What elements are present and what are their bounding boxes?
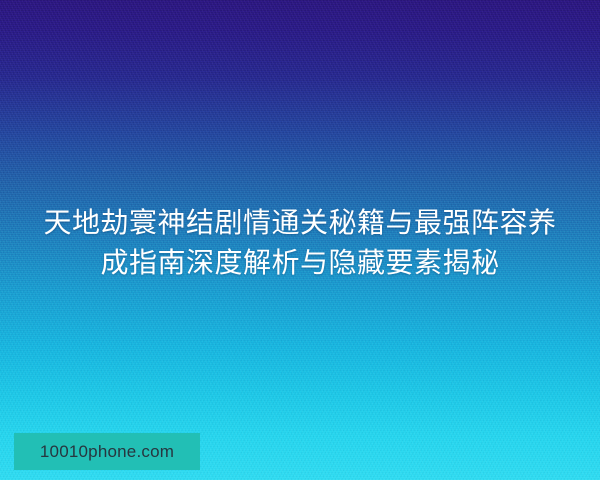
headline-title: 天地劫寰神结剧情通关秘籍与最强阵容养 成指南深度解析与隐藏要素揭秘 [0,203,600,283]
headline-line-2: 成指南深度解析与隐藏要素揭秘 [0,243,600,283]
cover-image-canvas: 天地劫寰神结剧情通关秘籍与最强阵容养 成指南深度解析与隐藏要素揭秘 10010p… [0,0,600,480]
watermark-badge: 10010phone.com [14,433,200,470]
watermark-site-label: 10010phone.com [40,442,174,462]
headline-line-1: 天地劫寰神结剧情通关秘籍与最强阵容养 [0,203,600,243]
